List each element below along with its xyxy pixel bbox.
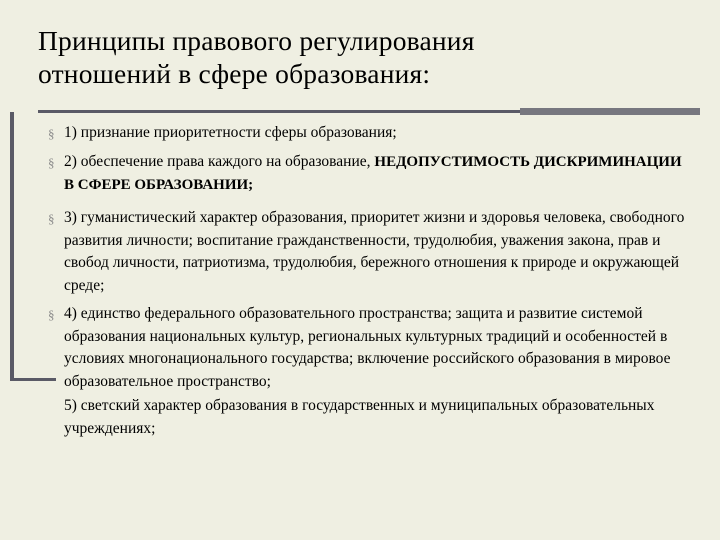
left-accent-bar [10,112,14,380]
page-title: Принципы правового регулирования отношен… [38,24,698,90]
bullet-list: § 1) признание приоритетности сферы обра… [44,122,694,442]
bullet-icon: § [44,122,64,145]
list-item: § 3) гуманистический характер образовани… [44,207,694,297]
list-item-text: 1) признание приоритетности сферы образо… [64,122,694,145]
list-item: § 4) единство федерального образовательн… [44,303,694,393]
list-item-text-plain: 2) обеспечение права каждого на образова… [64,153,374,170]
list-item-text: 4) единство федерального образовательног… [64,303,694,393]
bullet-icon: § [44,151,64,174]
list-item-text: 3) гуманистический характер образования,… [64,207,694,297]
bullet-icon: § [44,207,64,230]
list-item: § 1) признание приоритетности сферы обра… [44,122,694,145]
list-item: § 2) обеспечение права каждого на образо… [44,151,694,196]
page-title-line-2: отношений в сфере образования: [38,57,698,90]
spacer [44,198,694,207]
list-item-text: 2) обеспечение права каждого на образова… [64,151,694,196]
page-title-line-1: Принципы правового регулирования [38,25,475,56]
title-divider-accent [520,108,700,115]
list-item-text: 5) светский характер образования в госуд… [64,395,694,440]
bullet-icon: § [44,303,64,326]
list-item: 5) светский характер образования в госуд… [44,395,694,440]
slide: Принципы правового регулирования отношен… [0,0,720,540]
